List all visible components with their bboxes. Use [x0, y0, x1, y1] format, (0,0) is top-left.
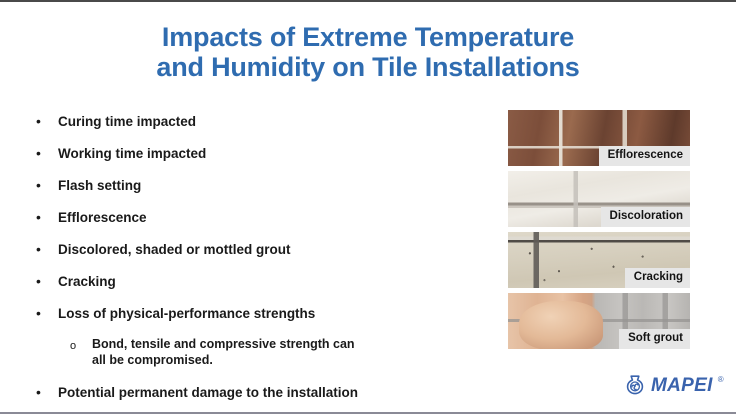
bullet-item: •Loss of physical-performance strengths: [36, 304, 486, 323]
photo-soft-grout: Soft grout: [508, 293, 690, 349]
photo-caption: Soft grout: [619, 329, 690, 349]
sub-bullet-marker-icon: o: [70, 336, 92, 356]
bullet-marker-icon: •: [36, 208, 58, 227]
bullet-item: •Flash setting: [36, 176, 486, 195]
presentation-slide: Impacts of Extreme Temperature and Humid…: [0, 0, 736, 414]
bullet-text: Discolored, shaded or mottled grout: [58, 240, 291, 259]
bullet-text: Potential permanent damage to the instal…: [58, 383, 358, 402]
photo-cracking: Cracking: [508, 232, 690, 288]
bullet-text: Working time impacted: [58, 144, 206, 163]
bullet-marker-icon: •: [36, 304, 58, 323]
bullet-item: •Potential permanent damage to the insta…: [36, 383, 486, 402]
bullet-list: •Curing time impacted•Working time impac…: [36, 112, 486, 414]
bullet-item: •Efflorescence: [36, 208, 486, 227]
photo-caption: Efflorescence: [599, 146, 690, 166]
bullet-item: •Cracking: [36, 272, 486, 291]
photo-efflorescence: Efflorescence: [508, 110, 690, 166]
bullet-marker-icon: •: [36, 240, 58, 259]
bullet-text: Bond, tensile and compressive strength c…: [92, 336, 355, 368]
bullet-marker-icon: •: [36, 383, 58, 402]
mapei-wordmark: MAPEI: [651, 376, 713, 395]
bullet-text: Curing time impacted: [58, 112, 196, 131]
bullet-marker-icon: •: [36, 272, 58, 291]
registered-trademark-symbol: ®: [718, 376, 724, 384]
bullet-item: •Curing time impacted: [36, 112, 486, 131]
photo-caption: Cracking: [625, 268, 690, 288]
bullet-text: Cracking: [58, 272, 116, 291]
bullet-item: •Discolored, shaded or mottled grout: [36, 240, 486, 259]
bullet-text: Flash setting: [58, 176, 141, 195]
page-title-line-2: and Humidity on Tile Installations: [0, 52, 736, 82]
bullet-marker-icon: •: [36, 144, 58, 163]
bullet-text: Loss of physical-performance strengths: [58, 304, 315, 323]
mapei-logo: MAPEI ®: [624, 374, 724, 396]
photo-column: EfflorescenceDiscolorationCrackingSoft g…: [508, 110, 690, 354]
photo-caption: Discoloration: [601, 207, 690, 227]
mapei-bag-swirl-icon: [624, 374, 646, 396]
photo-discoloration: Discoloration: [508, 171, 690, 227]
bullet-marker-icon: •: [36, 176, 58, 195]
bullet-text: Efflorescence: [58, 208, 147, 227]
bullet-item: •Working time impacted: [36, 144, 486, 163]
bullet-marker-icon: •: [36, 112, 58, 131]
page-title-line-1: Impacts of Extreme Temperature: [0, 22, 736, 52]
sub-bullet-item: oBond, tensile and compressive strength …: [70, 336, 486, 368]
page-title: Impacts of Extreme Temperature and Humid…: [0, 22, 736, 82]
